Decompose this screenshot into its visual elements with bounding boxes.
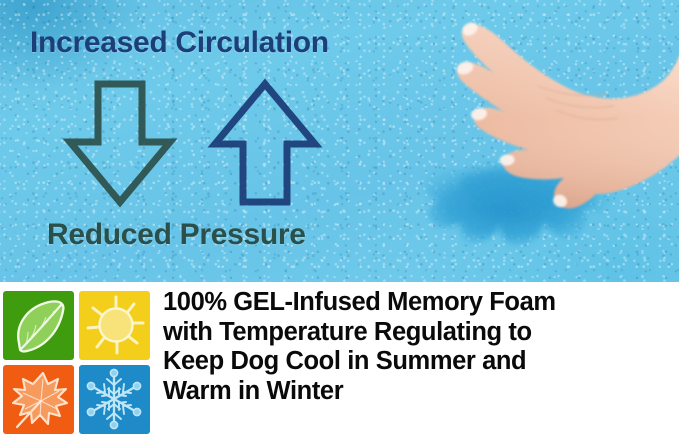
label-increased-circulation: Increased Circulation [30, 26, 329, 60]
sun-icon [79, 291, 150, 360]
label-reduced-pressure: Reduced Pressure [47, 218, 306, 252]
hand-on-foam [370, 0, 679, 282]
spring-leaf-tile [3, 291, 74, 360]
caption-line-3: Keep Dog Cool in Summer and [163, 347, 668, 377]
caption-line-1: 100% GEL-Infused Memory Foam [163, 288, 668, 318]
caption-line-2: with Temperature Regulating to [163, 318, 668, 348]
winter-snowflake-tile [79, 365, 150, 434]
down-arrow-icon [62, 78, 178, 213]
caption-line-4: Warm in Winter [163, 377, 668, 407]
feature-caption: 100% GEL-Infused Memory Foam with Temper… [163, 288, 668, 406]
feature-caption-band: 100% GEL-Infused Memory Foam with Temper… [0, 282, 679, 436]
maple-leaf-icon [3, 365, 74, 434]
product-infographic: Increased Circulation Reduced Pressure [0, 0, 679, 436]
summer-sun-tile [79, 291, 150, 360]
up-arrow-icon [207, 78, 323, 213]
foam-photo-panel: Increased Circulation Reduced Pressure [0, 0, 679, 282]
leaf-icon [3, 291, 74, 360]
snowflake-icon [79, 365, 150, 434]
season-tile-grid [3, 291, 150, 434]
autumn-leaf-tile [3, 365, 74, 434]
